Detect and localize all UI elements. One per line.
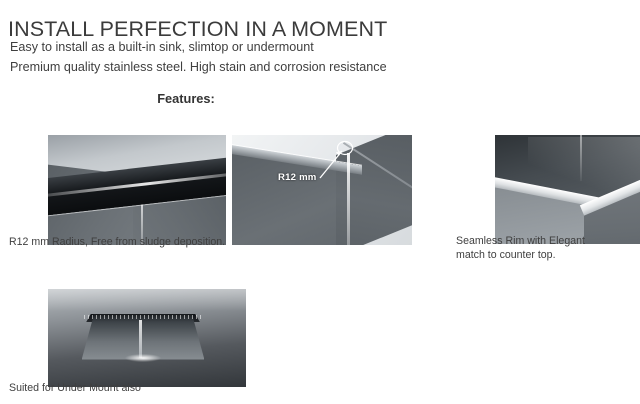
r12-annotation-label: R12 mm [278,172,317,183]
subtitle-line-2: Premium quality stainless steel. High st… [10,60,387,74]
subtitle-line-1: Easy to install as a built-in sink, slim… [10,40,314,54]
caption-seamless-rim: Seamless Rim with Elegant match to count… [456,234,585,262]
features-heading: Features: [0,91,372,106]
caption-undermount: Suited for Under Mount also [9,381,141,395]
photo-corner-radius [48,135,226,245]
caption-corner-radius: R12 mm Radius, Free from sludge depositi… [9,235,225,249]
photo-undermount [48,289,246,387]
page-title: INSTALL PERFECTION IN A MOMENT [8,17,387,42]
drain-reflection [139,320,142,357]
photo-seamless-rim [495,135,640,244]
bowl-edge-highlight [84,315,203,319]
photo-r12-detail: R12 mm [232,135,412,245]
drain-outlet [125,354,161,363]
basin-back-corner [580,135,582,181]
counter-gloss [48,289,246,311]
corner-radius-edge [347,153,350,245]
basin-reflection [528,137,640,194]
